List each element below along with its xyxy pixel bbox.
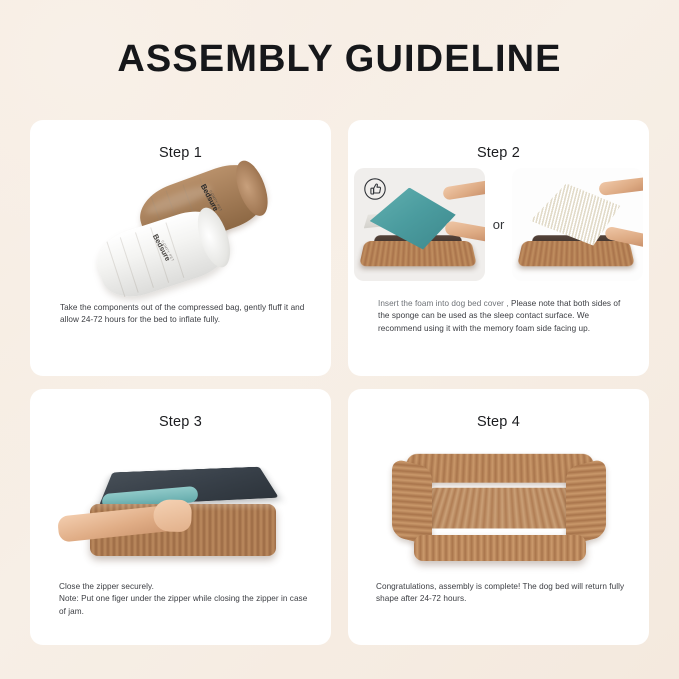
foam-option-memory-panel [512, 168, 643, 281]
step-4-caption: Congratulations, assembly is complete! T… [376, 581, 627, 606]
step-2-illustration: or [348, 164, 649, 284]
bed-seat-cushion [415, 488, 585, 529]
foam-option-teal-panel [354, 168, 485, 281]
option-separator-or: or [493, 217, 505, 232]
thumbs-up-icon [363, 177, 387, 201]
hand-upper-left-panel [442, 180, 485, 200]
step-3-caption: Close the zipper securely. Note: Put one… [59, 581, 309, 618]
step-card-2: Step 2 [348, 120, 649, 376]
step-2-caption: Insert the foam into dog bed cover , Ple… [378, 298, 627, 335]
step-2-caption-lead: Insert the foam into dog bed cover , [378, 299, 511, 308]
assembly-guideline-page: ASSEMBLY GUIDELINE Step 1 [0, 0, 679, 679]
compressed-bags-graphic: Bedsure COMFY PET Bedsure COMFY PET [91, 169, 271, 294]
bed-left-arm [392, 458, 432, 546]
step-2-heading: Step 2 [348, 120, 649, 161]
step-card-1: Step 1 Be [30, 120, 331, 376]
step-3-illustration [30, 441, 331, 581]
step-card-4: Step 4 Congratulations, assembly is comp… [348, 389, 649, 645]
step-4-illustration [348, 437, 649, 585]
finished-dog-bed-graphic [380, 445, 618, 577]
step-1-caption: Take the components out of the compresse… [60, 302, 309, 327]
step-1-illustration: Bedsure COMFY PET Bedsure COMFY PET [30, 166, 331, 296]
step-card-3: Step 3 Close the zipper securely. Note: … [30, 389, 331, 645]
bed-front-bolster [414, 535, 586, 561]
step-3-caption-line1: Close the zipper securely. [59, 581, 309, 593]
zipping-bed-graphic [66, 448, 296, 574]
foam-option-panels: or [354, 168, 644, 281]
steps-grid: Step 1 Be [30, 120, 649, 645]
bed-right-arm [566, 458, 606, 546]
step-3-heading: Step 3 [30, 389, 331, 430]
step-1-heading: Step 1 [30, 120, 331, 161]
step-4-heading: Step 4 [348, 389, 649, 430]
page-title: ASSEMBLY GUIDELINE [0, 38, 679, 81]
hand-upper-right-panel [599, 177, 644, 196]
step-3-caption-line2: Note: Put one figer under the zipper whi… [59, 593, 309, 618]
